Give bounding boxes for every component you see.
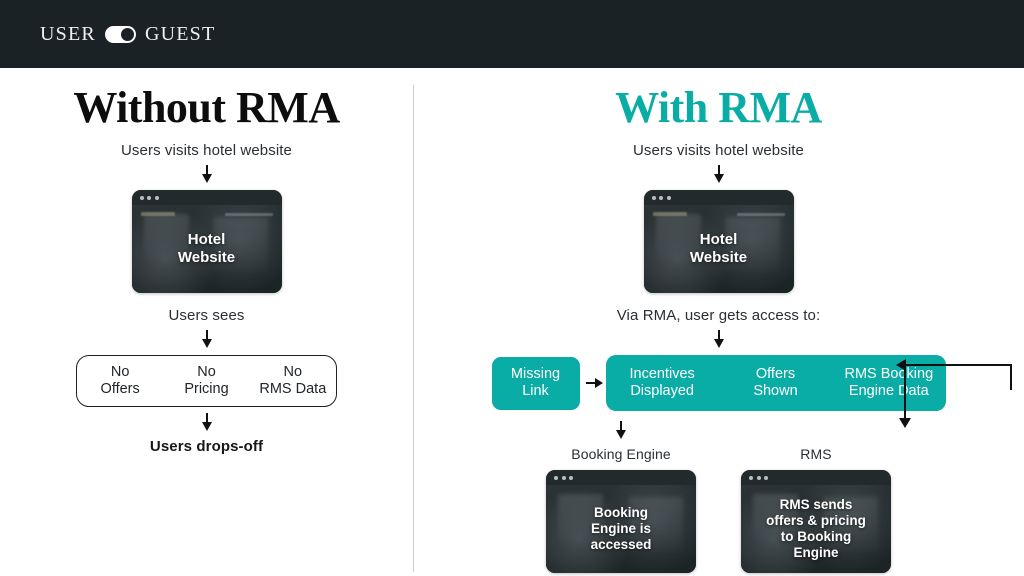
card-line-2: Website — [690, 249, 747, 267]
card-line-3: accessed — [591, 537, 652, 553]
hotel-website-card-label: Hotel Website — [132, 205, 282, 293]
logo-text-user: USER — [40, 23, 96, 46]
booking-engine-caption: Booking Engine — [571, 446, 670, 462]
browser-dot-icon — [667, 196, 671, 200]
outcome-line-2: RMS Data — [259, 381, 326, 398]
browser-dot-icon — [155, 196, 159, 200]
connector-vertical-left — [904, 364, 906, 420]
rms-feedback-connector — [890, 364, 1014, 428]
logo-text-guest: GUEST — [145, 23, 215, 46]
benefits-flow-row: Missing Link Incentives Displayed Offers… — [492, 355, 946, 411]
rms-leg: RMS RMS sends offers & pricing to Bookin… — [741, 415, 891, 573]
connector-vertical-right — [1010, 364, 1012, 390]
arrow-down-icon — [200, 165, 214, 184]
browser-dot-icon — [749, 476, 753, 480]
left-headline: Without RMA — [73, 86, 339, 130]
card-line-1: Booking — [594, 505, 648, 521]
booking-engine-leg: Booking Engine Booking Engine is accesse… — [546, 415, 696, 573]
comparison-stage: Without RMA Users visits hotel website H… — [0, 68, 1024, 576]
rms-card-label: RMS sends offers & pricing to Booking En… — [741, 485, 891, 573]
browser-dot-icon — [569, 476, 573, 480]
arrow-down-icon — [200, 413, 214, 432]
card-line-3: to Booking — [781, 529, 852, 545]
card-line-2: Website — [178, 249, 235, 267]
left-step1-caption: Users visits hotel website — [121, 142, 292, 159]
outcome-line-2: Offers — [101, 381, 140, 398]
without-rma-column: Without RMA Users visits hotel website H… — [0, 68, 413, 455]
browser-dot-icon — [140, 196, 144, 200]
connector-horizontal — [906, 364, 1012, 366]
with-rma-column: With RMA Users visits hotel website Hote… — [413, 68, 1024, 573]
right-step2-caption: Via RMA, user gets access to: — [617, 307, 821, 324]
arrow-down-icon — [712, 165, 726, 184]
arrow-down-icon — [200, 330, 214, 349]
benefit-line-1: Offers — [756, 366, 795, 383]
hotel-website-card-left: Hotel Website — [132, 190, 282, 293]
card-line-1: Hotel — [700, 231, 738, 249]
right-step1-caption: Users visits hotel website — [633, 142, 804, 159]
right-headline: With RMA — [615, 86, 822, 130]
browser-dot-icon — [659, 196, 663, 200]
card-line-2: offers & pricing — [766, 513, 866, 529]
toggle-switch-icon — [105, 26, 136, 43]
missing-link-box: Missing Link — [492, 357, 580, 410]
card-line-4: Engine — [793, 545, 838, 561]
browser-dot-icon — [554, 476, 558, 480]
missing-link-line-2: Link — [522, 383, 549, 400]
rms-card: RMS sends offers & pricing to Booking En… — [741, 470, 891, 573]
booking-engine-card-label: Booking Engine is accessed — [546, 485, 696, 573]
outcome-line-1: No — [284, 364, 303, 381]
browser-dot-icon — [757, 476, 761, 480]
booking-engine-card: Booking Engine is accessed — [546, 470, 696, 573]
browser-dot-icon — [652, 196, 656, 200]
arrow-down-icon — [614, 421, 628, 440]
browser-titlebar — [546, 470, 696, 485]
benefit-cell-incentives: Incentives Displayed — [606, 355, 719, 411]
benefit-line-2: Shown — [753, 383, 797, 400]
bottom-cards-row: Booking Engine Booking Engine is accesse… — [546, 415, 891, 573]
browser-titlebar — [644, 190, 794, 205]
missing-link-line-1: Missing — [511, 366, 560, 383]
card-line-1: RMS sends — [780, 497, 853, 513]
outcome-cell-no-pricing: No Pricing — [163, 356, 249, 406]
browser-titlebar — [741, 470, 891, 485]
outcome-cell-no-offers: No Offers — [77, 356, 163, 406]
browser-dot-icon — [764, 476, 768, 480]
browser-titlebar — [132, 190, 282, 205]
card-line-2: Engine is — [591, 521, 651, 537]
arrow-down-icon — [712, 330, 726, 349]
top-header-bar: USER GUEST — [0, 0, 1024, 68]
card-line-1: Hotel — [188, 231, 226, 249]
arrow-right-icon — [580, 377, 606, 389]
rms-caption: RMS — [800, 446, 831, 462]
negative-outcomes-box: No Offers No Pricing No RMS Data — [76, 355, 337, 407]
outcome-line-2: Pricing — [184, 381, 228, 398]
arrow-down-head-icon — [899, 418, 911, 428]
benefit-line-1: Incentives — [630, 366, 695, 383]
browser-dot-icon — [562, 476, 566, 480]
brand-logo[interactable]: USER GUEST — [40, 23, 215, 46]
browser-dot-icon — [147, 196, 151, 200]
hotel-website-card-right: Hotel Website — [644, 190, 794, 293]
outcome-line-1: No — [197, 364, 216, 381]
benefit-cell-offers: Offers Shown — [719, 355, 832, 411]
left-step2-caption: Users sees — [168, 307, 244, 324]
left-final-caption: Users drops-off — [150, 438, 263, 455]
outcome-cell-no-rms-data: No RMS Data — [250, 356, 336, 406]
arrow-left-head-icon — [896, 359, 906, 371]
benefit-line-2: Displayed — [630, 383, 694, 400]
outcome-line-1: No — [111, 364, 130, 381]
hotel-website-card-label: Hotel Website — [644, 205, 794, 293]
